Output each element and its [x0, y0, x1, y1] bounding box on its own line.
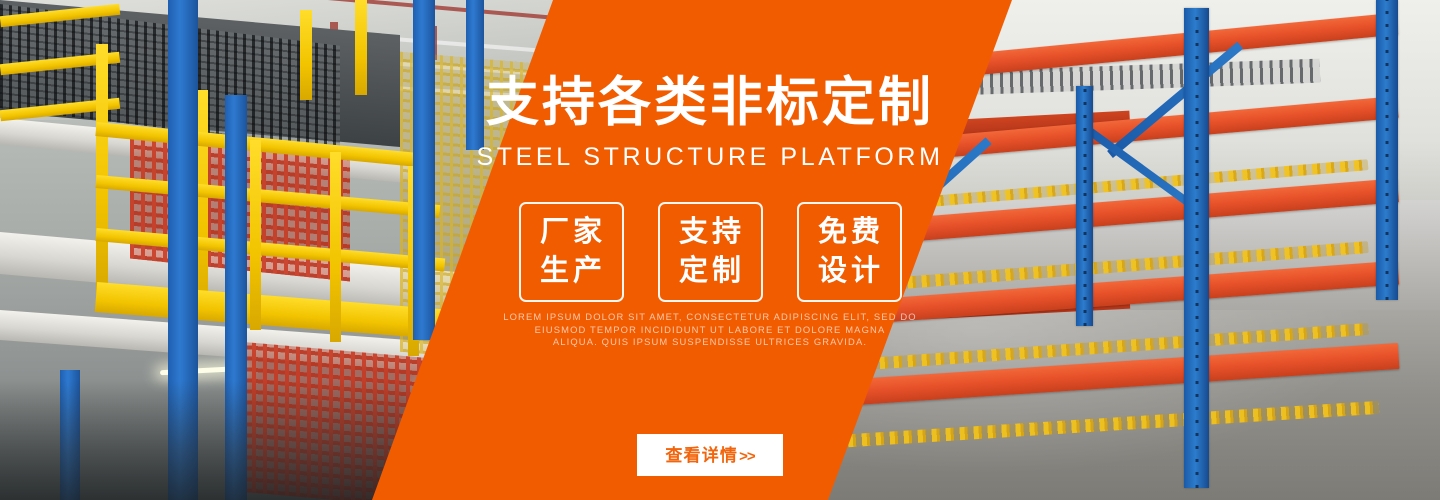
banner-subtitle: STEEL STRUCTURE PLATFORM [430, 143, 990, 172]
badge-line-1: 厂家 [536, 214, 606, 251]
chevron-right-double-icon: >> [739, 449, 755, 464]
badge-line-1: 免费 [814, 214, 884, 251]
page-title: 支持各类非标定制 [430, 74, 990, 132]
badge-line-2: 定制 [675, 253, 745, 290]
cta-label: 查看详情 [665, 447, 738, 464]
feature-badge-group: 厂家 生产 支持 定制 免费 设计 [430, 202, 990, 302]
view-details-button[interactable]: 查看详情>> [637, 434, 783, 476]
feature-badge-customization: 支持 定制 [658, 202, 763, 302]
cta-container: 查看详情>> [430, 434, 990, 476]
badge-line-1: 支持 [675, 214, 745, 251]
description-line-2: EIUSMOD TEMPOR INCIDIDUNT UT LABORE ET D… [430, 324, 990, 337]
feature-badge-manufacturer: 厂家 生产 [519, 202, 624, 302]
feature-badge-free-design: 免费 设计 [797, 202, 902, 302]
promo-banner: 支持各类非标定制 STEEL STRUCTURE PLATFORM 厂家 生产 … [0, 0, 1440, 500]
badge-line-2: 生产 [536, 253, 606, 290]
badge-line-2: 设计 [814, 253, 884, 290]
banner-description: LOREM IPSUM DOLOR SIT AMET, CONSECTETUR … [430, 311, 990, 349]
description-line-1: LOREM IPSUM DOLOR SIT AMET, CONSECTETUR … [430, 311, 990, 324]
banner-content: 支持各类非标定制 STEEL STRUCTURE PLATFORM 厂家 生产 … [0, 0, 1440, 500]
description-line-3: ALIQUA. QUIS IPSUM SUSPENDISSE ULTRICES … [430, 336, 990, 349]
